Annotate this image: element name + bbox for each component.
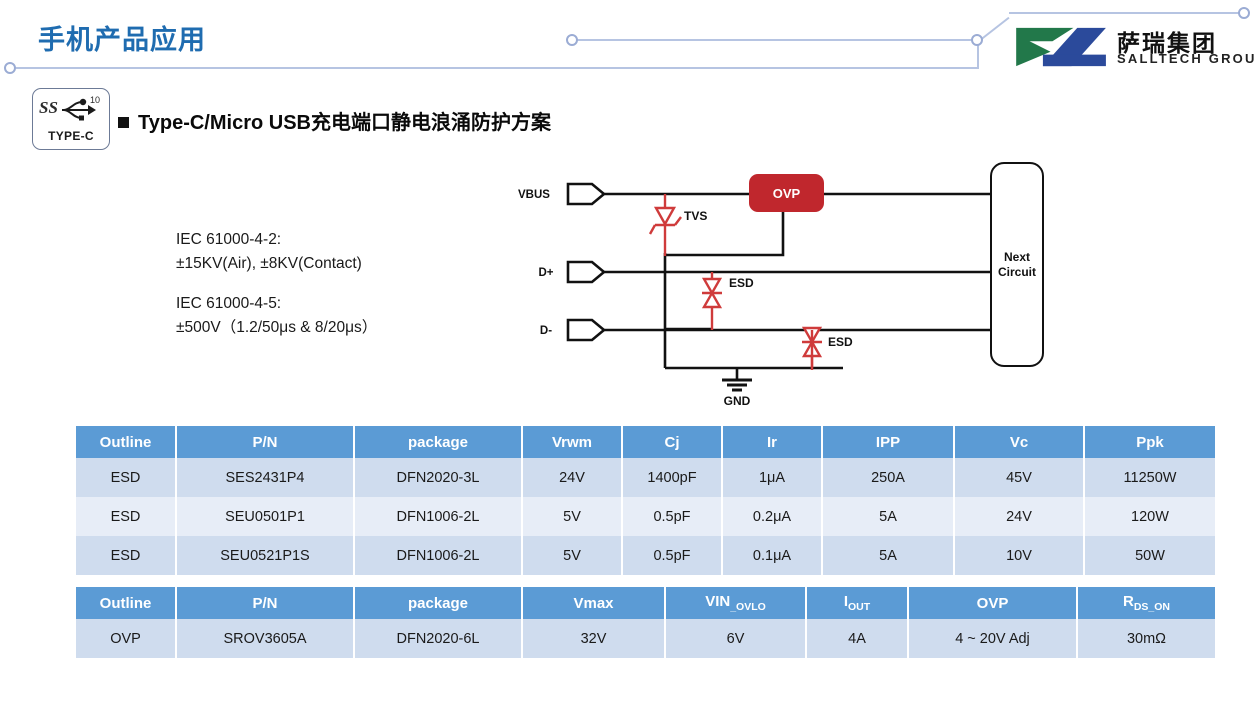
table-row: ESD SEU0501P1 DFN1006-2L 5V 0.5pF 0.2μA … (76, 497, 1215, 536)
table-row: ESD SEU0521P1S DFN1006-2L 5V 0.5pF 0.1μA… (76, 536, 1215, 575)
cell-vc: 45V (954, 458, 1084, 497)
cell-ppk: 120W (1084, 497, 1215, 536)
table-header-row: Outline P/N package Vmax VIN_OVLO IOUT O… (76, 587, 1215, 619)
th-ir: Ir (722, 426, 822, 458)
deco-circle-junction (971, 34, 983, 46)
deco-circle-right (1238, 7, 1250, 19)
table-header-row: Outline P/N package Vrwm Cj Ir IPP Vc Pp… (76, 426, 1215, 458)
next-circuit-line-1: Next (1004, 250, 1030, 265)
table-row: OVP SROV3605A DFN2020-6L 32V 6V 4A 4 ~ 2… (76, 619, 1215, 658)
page-title: 手机产品应用 (38, 18, 206, 57)
cell-outline: OVP (76, 619, 176, 658)
section-heading-text: Type-C/Micro USB充电端口静电浪涌防护方案 (138, 112, 551, 134)
th-rds-on: RDS_ON (1077, 587, 1215, 619)
type-c-badge: SS 10 TYPE-C (32, 88, 110, 150)
cell-package: DFN1006-2L (354, 497, 522, 536)
label-dminus: D- (540, 325, 552, 337)
th-outline: Outline (76, 587, 176, 619)
cell-vc: 10V (954, 536, 1084, 575)
deco-circle-left (4, 62, 16, 74)
th-pn: P/N (176, 426, 354, 458)
cell-package: DFN1006-2L (354, 536, 522, 575)
spec-line-3: IEC 61000-4-5: (176, 292, 377, 316)
port-connectors (568, 184, 604, 340)
port-labels: VBUS D+ D- (518, 189, 554, 337)
deco-line-diagonal (978, 17, 1009, 42)
standards-text-block: IEC 61000-4-2: ±15KV(Air), ±8KV(Contact)… (176, 228, 377, 340)
cell-vin-ovlo: 6V (665, 619, 806, 658)
cell-vrwm: 5V (522, 497, 622, 536)
spec-line-2: ±15KV(Air), ±8KV(Contact) (176, 252, 377, 276)
cell-cj: 0.5pF (622, 536, 722, 575)
th-ppk: Ppk (1084, 426, 1215, 458)
th-vmax: Vmax (522, 587, 665, 619)
tvs-triangle (656, 208, 674, 224)
section-heading: Type-C/Micro USB充电端口静电浪涌防护方案 (118, 106, 551, 135)
th-ipp: IPP (822, 426, 954, 458)
usb-trident-icon (60, 97, 98, 123)
ground-symbol (722, 368, 752, 390)
cell-pn: SEU0521P1S (176, 536, 354, 575)
cell-ipp: 5A (822, 497, 954, 536)
th-vrwm: Vrwm (522, 426, 622, 458)
esd-parts-table: Outline P/N package Vrwm Cj Ir IPP Vc Pp… (76, 426, 1215, 575)
cell-outline: ESD (76, 497, 176, 536)
cell-outline: ESD (76, 536, 176, 575)
cell-outline: ESD (76, 458, 176, 497)
cell-pn: SES2431P4 (176, 458, 354, 497)
cell-vmax: 32V (522, 619, 665, 658)
deco-line-middle (575, 39, 979, 41)
esd2-triangle-top (804, 328, 820, 342)
esd1-triangle-top (704, 279, 720, 293)
deco-line-lower (16, 67, 978, 69)
cell-ir: 0.2μA (722, 497, 822, 536)
cell-pn: SROV3605A (176, 619, 354, 658)
label-dplus: D+ (538, 267, 553, 279)
table-row: ESD SES2431P4 DFN2020-3L 24V 1400pF 1μA … (76, 458, 1215, 497)
deco-line-upper (1009, 12, 1241, 14)
tvs-diode (650, 194, 681, 256)
cell-ir: 1μA (722, 458, 822, 497)
label-esd-1: ESD (729, 276, 754, 290)
connector-dplus (568, 262, 604, 282)
esd-diode-1 (702, 272, 722, 330)
type-c-label: TYPE-C (33, 129, 109, 143)
cell-ipp: 5A (822, 536, 954, 575)
th-outline: Outline (76, 426, 176, 458)
next-circuit-line-2: Circuit (998, 265, 1036, 280)
cell-pn: SEU0501P1 (176, 497, 354, 536)
ovp-block-label: OVP (773, 186, 800, 201)
cell-iout: 4A (806, 619, 908, 658)
esd2-triangle-bottom (804, 342, 820, 356)
tvs-bar-hook-left (650, 225, 655, 234)
cell-ovp: 4 ~ 20V Adj (908, 619, 1077, 658)
th-vc: Vc (954, 426, 1084, 458)
component-labels: TVS ESD ESD GND (684, 209, 853, 408)
cell-ppk: 11250W (1084, 458, 1215, 497)
company-logo: 萨瑞集团 SALLTECH GROUP (1013, 24, 1243, 72)
cell-package: DFN2020-6L (354, 619, 522, 658)
logo-name-en: SALLTECH GROUP (1117, 51, 1257, 66)
cell-ppk: 50W (1084, 536, 1215, 575)
th-pn: P/N (176, 587, 354, 619)
cell-cj: 0.5pF (622, 497, 722, 536)
ovp-block: OVP (749, 174, 824, 212)
th-vin-ovlo: VIN_OVLO (665, 587, 806, 619)
spec-line-1: IEC 61000-4-2: (176, 228, 377, 252)
cell-vc: 24V (954, 497, 1084, 536)
cell-ipp: 250A (822, 458, 954, 497)
square-bullet-icon (118, 117, 129, 128)
esd-diode-2 (802, 328, 822, 370)
connector-vbus (568, 184, 604, 204)
cell-ir: 0.1μA (722, 536, 822, 575)
th-package: package (354, 426, 522, 458)
slide-root: 手机产品应用 萨瑞集团 SALLTECH GROUP SS 10 (0, 0, 1257, 706)
cell-package: DFN2020-3L (354, 458, 522, 497)
cell-rds-on: 30mΩ (1077, 619, 1215, 658)
th-cj: Cj (622, 426, 722, 458)
label-esd-2: ESD (828, 335, 853, 349)
cell-cj: 1400pF (622, 458, 722, 497)
label-gnd: GND (724, 394, 751, 408)
esd1-triangle-bottom (704, 293, 720, 307)
cell-vrwm: 5V (522, 536, 622, 575)
tvs-bar-hook-right (675, 217, 681, 225)
spec-spacer (176, 276, 377, 292)
connector-dminus (568, 320, 604, 340)
logo-mark-icon (1013, 26, 1111, 68)
ovp-parts-table: Outline P/N package Vmax VIN_OVLO IOUT O… (76, 587, 1215, 658)
cell-vrwm: 24V (522, 458, 622, 497)
th-ovp: OVP (908, 587, 1077, 619)
spec-line-4: ±500V（1.2/50μs & 8/20μs） (176, 316, 377, 340)
th-iout: IOUT (806, 587, 908, 619)
th-package: package (354, 587, 522, 619)
wire-ovp-enable (665, 212, 783, 255)
label-vbus: VBUS (518, 189, 550, 201)
deco-circle-mid (566, 34, 578, 46)
next-circuit-block: Next Circuit (990, 162, 1044, 367)
label-tvs: TVS (684, 209, 707, 223)
superspeed-label: SS (39, 98, 58, 118)
circuit-wires (601, 194, 990, 368)
